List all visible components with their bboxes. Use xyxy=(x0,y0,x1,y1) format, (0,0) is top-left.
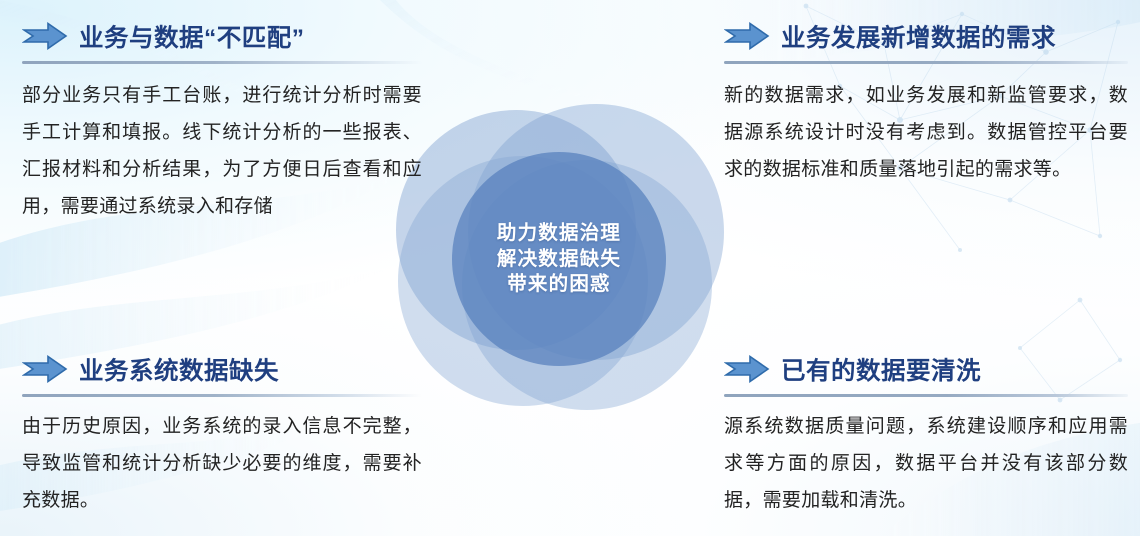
panel-header: 业务系统数据缺失 xyxy=(22,349,422,389)
arrow-right-icon xyxy=(724,355,770,383)
panel-title: 业务发展新增数据的需求 xyxy=(781,19,1056,54)
panel-title: 已有的数据要清洗 xyxy=(781,352,981,387)
panel-divider xyxy=(724,61,1128,64)
panel-missing-system-data: 业务系统数据缺失 由于历史原因，业务系统的录入信息不完整，导致监管和统计分析缺少… xyxy=(22,349,422,519)
venn-core-circle xyxy=(452,152,666,366)
center-headline: 助力数据治理 解决数据缺失 带来的困惑 xyxy=(452,152,666,366)
venn-circle-2 xyxy=(468,104,724,360)
panel-header: 业务发展新增数据的需求 xyxy=(724,16,1128,56)
center-headline-line-3: 带来的困惑 xyxy=(507,272,611,297)
panel-title: 业务系统数据缺失 xyxy=(79,352,279,387)
arrow-right-icon xyxy=(22,22,68,50)
panel-divider xyxy=(22,394,422,397)
panel-data-cleansing: 已有的数据要清洗 源系统数据质量问题，系统建设顺序和应用需求等方面的原因，数据平… xyxy=(724,349,1128,519)
arrow-right-icon xyxy=(22,355,68,383)
panel-divider xyxy=(22,61,422,64)
center-headline-line-2: 解决数据缺失 xyxy=(497,247,621,272)
arrow-right-icon xyxy=(724,22,770,50)
panel-body-text: 源系统数据质量问题，系统建设顺序和应用需求等方面的原因，数据平台并没有该部分数据… xyxy=(724,408,1128,519)
venn-circles-graphic: 助力数据治理 解决数据缺失 带来的困惑 xyxy=(390,96,750,406)
panel-divider xyxy=(724,394,1128,397)
panel-body-text: 由于历史原因，业务系统的录入信息不完整，导致监管和统计分析缺少必要的维度，需要补… xyxy=(22,408,422,519)
slide-canvas: 助力数据治理 解决数据缺失 带来的困惑 业务与数据“不匹配” 部分业务只有手工台… xyxy=(0,0,1140,536)
panel-header: 业务与数据“不匹配” xyxy=(22,16,422,56)
venn-circle-4 xyxy=(462,160,712,410)
panel-new-data-demand: 业务发展新增数据的需求 新的数据需求，如业务发展和新监管要求，数据源系统设计时没… xyxy=(724,16,1128,188)
panel-title: 业务与数据“不匹配” xyxy=(79,19,305,54)
panel-body-text: 部分业务只有手工台账，进行统计分析时需要手工计算和填报。线下统计分析的一些报表、… xyxy=(22,77,422,225)
panel-body-text: 新的数据需求，如业务发展和新监管要求，数据源系统设计时没有考虑到。数据管控平台要… xyxy=(724,77,1128,188)
panel-business-data-mismatch: 业务与数据“不匹配” 部分业务只有手工台账，进行统计分析时需要手工计算和填报。线… xyxy=(22,16,422,225)
venn-circle-1 xyxy=(396,110,636,350)
venn-circle-3 xyxy=(398,156,648,406)
center-headline-line-1: 助力数据治理 xyxy=(497,221,621,246)
panel-header: 已有的数据要清洗 xyxy=(724,349,1128,389)
